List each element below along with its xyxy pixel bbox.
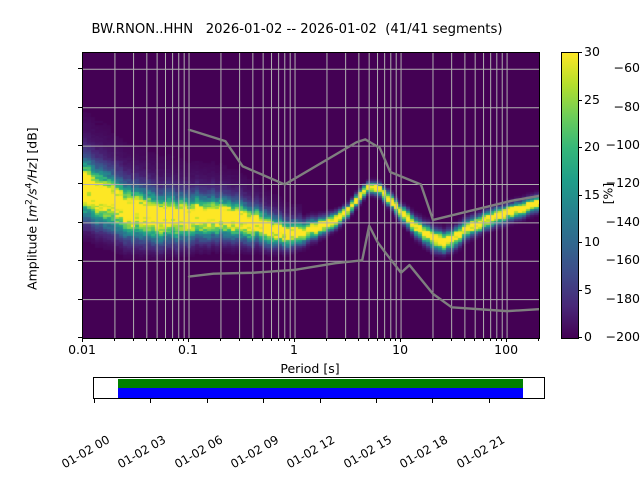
x-tick-mark-minor — [474, 338, 475, 341]
timeline-tick-mark — [432, 399, 433, 403]
colorbar-tick-label: 0 — [584, 329, 592, 344]
x-tick-mark-minor — [490, 338, 491, 341]
colorbar-tick-mark — [578, 337, 582, 338]
colorbar-tick-mark — [578, 290, 582, 291]
colorbar-tick-mark — [578, 147, 582, 148]
grid-lines — [83, 53, 539, 338]
x-axis-label: Period [s] — [82, 361, 538, 376]
high-noise-model-curve — [189, 130, 539, 220]
y-tick-mark — [78, 145, 82, 146]
x-tick-mark-minor — [278, 338, 279, 341]
coverage-bar-blue — [118, 388, 523, 398]
x-tick-mark-minor — [239, 338, 240, 341]
y-axis-label-text: Amplitude [ — [25, 217, 40, 290]
colorbar-tick-mark — [578, 100, 582, 101]
x-tick-mark-minor — [133, 338, 134, 341]
y-tick-label: −60 — [602, 60, 640, 75]
colorbar[interactable] — [561, 52, 579, 339]
y-axis-label: Amplitude [m2/s4/Hz] [dB] — [9, 77, 54, 357]
timeline-tick-mark — [489, 399, 490, 403]
x-tick-mark-minor — [156, 338, 157, 341]
timeline-tick-mark — [320, 399, 321, 403]
x-tick-mark-minor — [358, 338, 359, 341]
x-tick-mark-minor — [271, 338, 272, 341]
x-tick-mark-minor — [146, 338, 147, 341]
y-tick-label: −80 — [602, 99, 640, 114]
x-tick-mark-minor — [178, 338, 179, 341]
coverage-bar-green — [118, 379, 523, 388]
timeline-tick-mark — [150, 399, 151, 403]
x-tick-mark-minor — [252, 338, 253, 341]
timeline-tick-label: 01-02 15 — [341, 433, 394, 472]
x-tick-mark-minor — [326, 338, 327, 341]
x-tick-mark-minor — [165, 338, 166, 341]
x-tick-mark-minor — [496, 338, 497, 341]
colorbar-tick-label: 15 — [584, 187, 600, 202]
y-tick-mark — [78, 222, 82, 223]
timeline-tick-label: 01-02 09 — [228, 433, 281, 472]
x-tick-mark-minor — [284, 338, 285, 341]
data-coverage-timeline[interactable] — [93, 377, 545, 399]
y-tick-mark — [78, 260, 82, 261]
timeline-tick-label: 01-02 06 — [172, 433, 225, 472]
x-tick-mark-minor — [289, 338, 290, 341]
colorbar-tick-label: 10 — [584, 234, 600, 249]
colorbar-tick-mark — [578, 195, 582, 196]
y-tick-mark — [78, 68, 82, 69]
timeline-tick-label: 01-02 00 — [59, 433, 112, 472]
x-tick-mark-minor — [220, 338, 221, 341]
ppsd-figure: BW.RNON..HHN 2026-01-02 -- 2026-01-02 (4… — [0, 0, 640, 480]
x-tick-label: 10 — [392, 342, 408, 357]
x-tick-mark-minor — [395, 338, 396, 341]
colorbar-tick-label: 25 — [584, 92, 600, 107]
x-tick-mark-minor — [172, 338, 173, 341]
y-tick-mark — [78, 183, 82, 184]
colorbar-gradient — [562, 53, 578, 338]
x-tick-mark-minor — [262, 338, 263, 341]
low-noise-model-curve — [189, 226, 539, 311]
x-tick-label: 0.1 — [178, 342, 198, 357]
y-tick-mark — [78, 107, 82, 108]
x-tick-mark-minor — [114, 338, 115, 341]
timeline-tick-mark — [94, 399, 95, 403]
noise-model-overlay — [83, 53, 539, 338]
timeline-tick-label: 01-02 21 — [454, 433, 507, 472]
timeline-tick-label: 01-02 18 — [397, 433, 450, 472]
x-tick-mark-minor — [501, 338, 502, 341]
x-tick-label: 1 — [290, 342, 298, 357]
colorbar-tick-label: 5 — [584, 282, 592, 297]
ppsd-plot-area[interactable] — [82, 52, 540, 339]
timeline-tick-mark — [207, 399, 208, 403]
x-tick-mark-minor — [432, 338, 433, 341]
x-tick-mark-minor — [451, 338, 452, 341]
y-tick-label: −200 — [602, 329, 640, 344]
x-tick-mark-minor — [368, 338, 369, 341]
y-tick-label: −180 — [602, 291, 640, 306]
colorbar-tick-mark — [578, 52, 582, 53]
x-tick-label: 100 — [494, 342, 518, 357]
x-tick-mark-minor — [483, 338, 484, 341]
x-tick-mark-minor — [538, 338, 539, 341]
timeline-tick-mark — [263, 399, 264, 403]
y-tick-label: −160 — [602, 252, 640, 267]
timeline-tick-label: 01-02 12 — [285, 433, 338, 472]
colorbar-tick-label: 20 — [584, 139, 600, 154]
colorbar-label: [%] — [601, 164, 616, 224]
x-tick-mark-minor — [377, 338, 378, 341]
page-title: BW.RNON..HHN 2026-01-02 -- 2026-01-02 (4… — [0, 22, 594, 37]
x-tick-mark-minor — [464, 338, 465, 341]
x-tick-mark-minor — [384, 338, 385, 341]
y-axis-label-unit-suffix: ] [dB] — [25, 127, 40, 162]
colorbar-tick-label: 30 — [584, 44, 600, 59]
x-tick-mark-minor — [390, 338, 391, 341]
x-tick-mark-minor — [345, 338, 346, 341]
timeline-tick-mark — [376, 399, 377, 403]
colorbar-tick-mark — [578, 242, 582, 243]
timeline-tick-label: 01-02 03 — [115, 433, 168, 472]
y-tick-mark — [78, 299, 82, 300]
x-tick-mark-minor — [183, 338, 184, 341]
x-tick-label: 0.01 — [68, 342, 96, 357]
y-tick-label: −100 — [602, 137, 640, 152]
